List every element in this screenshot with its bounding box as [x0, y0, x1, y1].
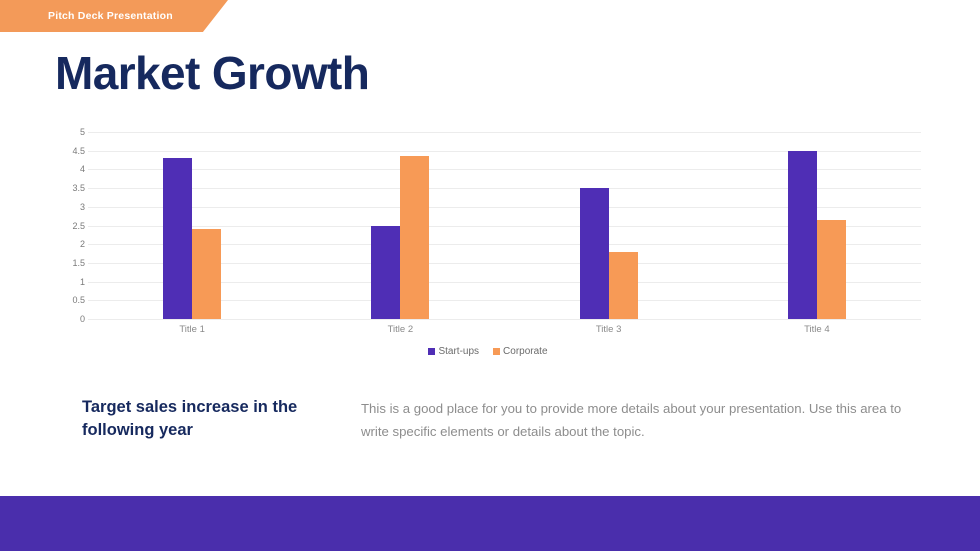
x-axis-tick-label: Title 3 — [505, 324, 713, 335]
legend-item[interactable]: Start-ups — [428, 346, 479, 357]
bar-start-ups-title-4[interactable] — [788, 151, 817, 319]
y-axis-tick-label: 1.5 — [72, 258, 85, 268]
y-axis-tick-label: 4 — [80, 164, 85, 174]
bar-corporate-title-2[interactable] — [400, 156, 429, 319]
y-axis-tick-label: 1 — [80, 277, 85, 287]
x-axis-tick-label: Title 4 — [713, 324, 921, 335]
bar-corporate-title-4[interactable] — [817, 220, 846, 319]
bar-start-ups-title-3[interactable] — [580, 188, 609, 319]
bar-group — [296, 132, 504, 319]
bar-group — [713, 132, 921, 319]
x-axis-tick-label: Title 2 — [296, 324, 504, 335]
chart-plot-area: 54.543.532.521.510.50 — [55, 132, 921, 322]
y-axis-tick-label: 0 — [80, 314, 85, 324]
bar-start-ups-title-1[interactable] — [163, 158, 192, 319]
y-axis-tick-label: 4.5 — [72, 146, 85, 156]
bar-group — [88, 132, 296, 319]
slide: Pitch Deck Presentation Market Growth 54… — [0, 0, 980, 551]
legend-label: Start-ups — [438, 346, 479, 357]
x-axis: Title 1Title 2Title 3Title 4 — [88, 324, 921, 335]
header-tag: Pitch Deck Presentation — [0, 0, 228, 32]
body-paragraph: This is a good place for you to provide … — [361, 398, 906, 443]
bar-group — [505, 132, 713, 319]
y-axis-tick-label: 0.5 — [72, 295, 85, 305]
page-title: Market Growth — [55, 48, 369, 99]
y-axis-tick-label: 3 — [80, 202, 85, 212]
bar-corporate-title-1[interactable] — [192, 229, 221, 319]
bar-start-ups-title-2[interactable] — [371, 226, 400, 320]
y-axis: 54.543.532.521.510.50 — [55, 132, 85, 322]
y-axis-tick-label: 2 — [80, 239, 85, 249]
chart-legend: Start-upsCorporate — [55, 346, 921, 357]
bar-corporate-title-3[interactable] — [609, 252, 638, 319]
lead-heading: Target sales increase in the following y… — [82, 396, 332, 443]
gridline — [88, 319, 921, 320]
chart-bars-layer — [88, 132, 921, 319]
y-axis-tick-label: 5 — [80, 127, 85, 137]
y-axis-tick-label: 3.5 — [72, 183, 85, 193]
legend-swatch-icon — [428, 348, 435, 355]
footer-band — [0, 496, 980, 551]
legend-swatch-icon — [493, 348, 500, 355]
y-axis-tick-label: 2.5 — [72, 221, 85, 231]
bar-chart: 54.543.532.521.510.50 Title 1Title 2Titl… — [55, 132, 921, 367]
legend-item[interactable]: Corporate — [493, 346, 547, 357]
legend-label: Corporate — [503, 346, 547, 357]
x-axis-tick-label: Title 1 — [88, 324, 296, 335]
header-tag-label: Pitch Deck Presentation — [48, 10, 173, 22]
